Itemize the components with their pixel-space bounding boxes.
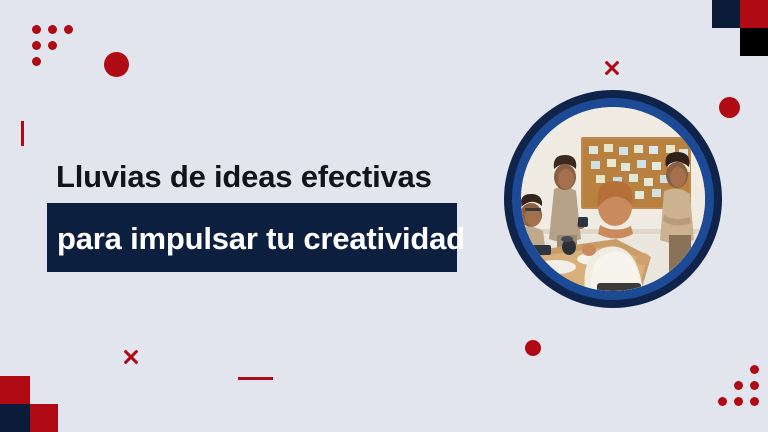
top-right-red-square xyxy=(740,0,768,28)
brainstorming-photo xyxy=(521,107,705,291)
dot xyxy=(32,57,41,66)
red-vertical-line xyxy=(21,121,24,146)
dot xyxy=(750,381,759,390)
red-horizontal-line xyxy=(238,377,273,380)
slide-headline: Lluvias de ideas efectivas xyxy=(56,159,432,195)
red-circle-top-right xyxy=(719,97,740,118)
dot xyxy=(64,25,73,34)
presentation-slide: Lluvias de ideas efectivas para impulsar… xyxy=(0,0,768,432)
cross-mark-icon-bottom xyxy=(122,348,140,366)
dot xyxy=(32,41,41,50)
red-circle-bottom-center xyxy=(525,340,541,356)
cross-mark-icon-top xyxy=(603,59,621,77)
dot xyxy=(48,25,57,34)
bottom-left-red-square-upper xyxy=(0,376,30,404)
bottom-left-red-square-lower xyxy=(30,404,58,432)
dot xyxy=(718,397,727,406)
dot xyxy=(750,365,759,374)
bottom-left-navy-square xyxy=(0,404,30,432)
dot xyxy=(750,397,759,406)
photo-illustration xyxy=(521,107,705,291)
dot xyxy=(48,41,57,50)
dot xyxy=(734,397,743,406)
slide-subheadline: para impulsar tu creatividad xyxy=(57,221,465,257)
red-circle-top-left xyxy=(104,52,129,77)
dot xyxy=(734,381,743,390)
dot xyxy=(32,25,41,34)
top-right-black-square xyxy=(740,28,768,56)
top-right-navy-square xyxy=(712,0,740,28)
